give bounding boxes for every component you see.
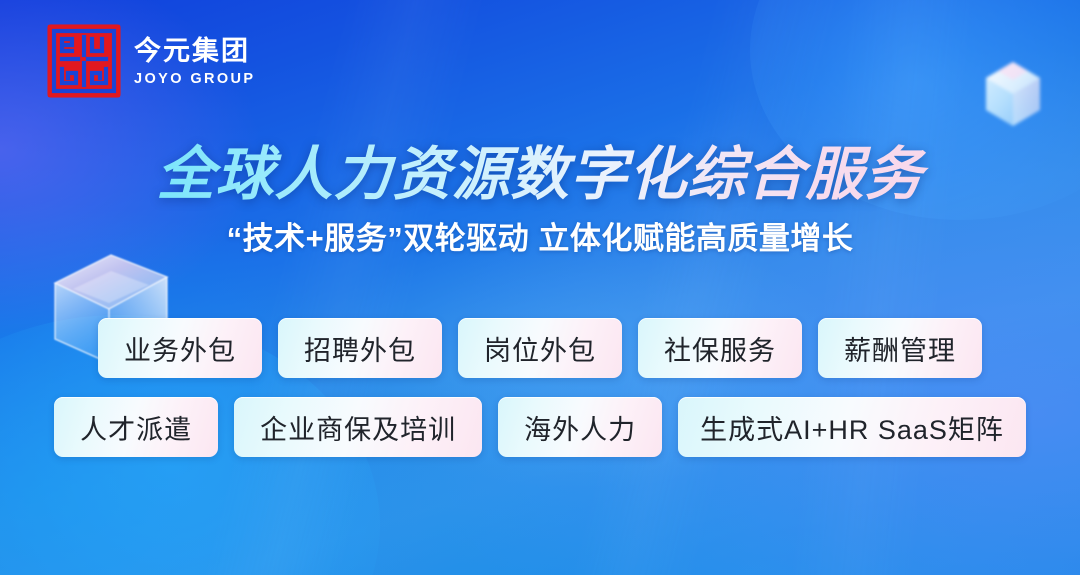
service-tag[interactable]: 海外人力	[498, 397, 662, 457]
service-tag[interactable]: 人才派遣	[54, 397, 218, 457]
service-tag[interactable]: 岗位外包	[458, 318, 622, 378]
service-tag[interactable]: 薪酬管理	[818, 318, 982, 378]
service-tag[interactable]: 社保服务	[638, 318, 802, 378]
brand-text: 今元集团 JOYO GROUP	[134, 36, 256, 87]
joyo-seal-icon	[48, 25, 120, 97]
service-tag[interactable]: 业务外包	[98, 318, 262, 378]
promo-banner: 今元集团 JOYO GROUP 全球人力资源数字化综合服务 “技术+服务”双轮驱…	[0, 0, 1080, 575]
service-tag-row-2: 人才派遣 企业商保及培训 海外人力 生成式AI+HR SaaS矩阵	[0, 397, 1080, 457]
service-tag[interactable]: 生成式AI+HR SaaS矩阵	[678, 397, 1026, 457]
brand-logo: 今元集团 JOYO GROUP	[48, 25, 256, 97]
glass-hexagon-icon	[970, 52, 1056, 138]
brand-name-cn: 今元集团	[134, 38, 256, 65]
page-title: 全球人力资源数字化综合服务	[0, 127, 1080, 211]
service-tag-list: 业务外包 招聘外包 岗位外包 社保服务 薪酬管理 人才派遣 企业商保及培训 海外…	[0, 318, 1080, 457]
service-tag[interactable]: 招聘外包	[278, 318, 442, 378]
brand-name-en: JOYO GROUP	[134, 72, 256, 87]
page-subtitle: “技术+服务”双轮驱动 立体化赋能高质量增长	[0, 213, 1080, 258]
service-tag-row-1: 业务外包 招聘外包 岗位外包 社保服务 薪酬管理	[0, 318, 1080, 378]
service-tag[interactable]: 企业商保及培训	[234, 397, 482, 457]
